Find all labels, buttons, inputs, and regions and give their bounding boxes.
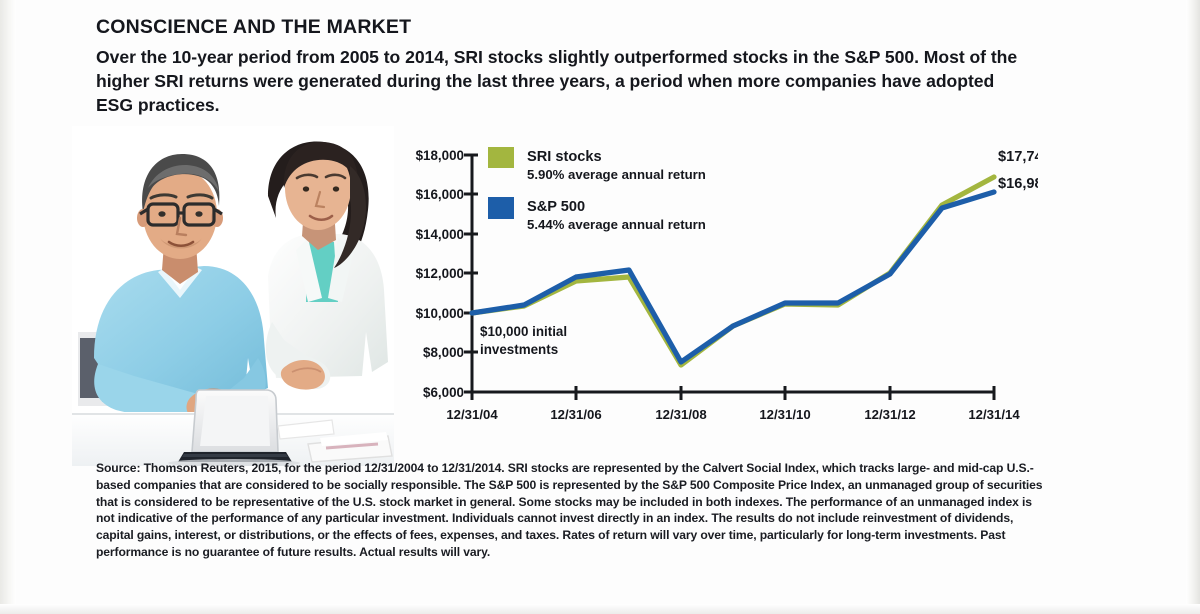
annotation-line-1: $10,000 initial [480, 324, 567, 339]
source-footnote: Source: Thomson Reuters, 2015, for the p… [96, 460, 1046, 561]
y-tick-label: $12,000 [416, 266, 464, 281]
x-tick-label: 12/31/12 [864, 407, 915, 422]
x-tick-label: 12/31/08 [655, 407, 706, 422]
chart-svg: $18,000 $16,000 $14,000 $12,000 $10,000 … [398, 140, 1038, 440]
page-subtitle: Over the 10-year period from 2005 to 201… [96, 45, 1036, 117]
legend-label-sri-stocks: SRI stocks [527, 149, 602, 165]
page-title: CONSCIENCE AND THE MARKET [96, 17, 1036, 38]
annotation-line-2: investments [480, 342, 558, 357]
photo-illustration [72, 126, 394, 466]
x-tick-label: 12/31/06 [550, 407, 601, 422]
page-edge-bottom [0, 604, 1200, 614]
header-block: CONSCIENCE AND THE MARKET Over the 10-ye… [96, 17, 1036, 117]
y-tick-label: $16,000 [416, 187, 464, 202]
x-tick-label: 12/31/14 [968, 407, 1020, 422]
x-tick-label: 12/31/04 [446, 407, 498, 422]
page-edge-right [1186, 0, 1200, 614]
x-axis-tick-labels: 12/31/04 12/31/06 12/31/08 12/31/10 12/3… [446, 407, 1020, 422]
initial-investment-annotation: $10,000 initial investments [480, 324, 567, 357]
y-tick-label: $18,000 [416, 148, 464, 163]
chart-legend: SRI stocks 5.90% average annual return S… [488, 147, 706, 232]
y-axis-tick-labels: $18,000 $16,000 $14,000 $12,000 $10,000 … [416, 148, 464, 400]
legend-label-sp500: S&P 500 [527, 199, 585, 215]
legend-swatch-sri-stocks [488, 147, 514, 168]
investment-growth-line-chart: $18,000 $16,000 $14,000 $12,000 $10,000 … [398, 140, 1038, 440]
y-tick-label: $10,000 [416, 306, 464, 321]
page-edge-left [0, 0, 16, 614]
series-end-value-labels: $17,745 $16,989 [998, 149, 1038, 192]
legend-swatch-sp500 [488, 197, 514, 219]
x-tick-label: 12/31/10 [759, 407, 810, 422]
y-tick-label: $8,000 [423, 345, 464, 360]
two-people-reviewing-laptop-photo [72, 126, 394, 466]
chart-axes [464, 155, 994, 400]
y-tick-label: $14,000 [416, 227, 464, 242]
end-label-sri-stocks: $17,745 [998, 149, 1038, 165]
y-tick-label: $6,000 [423, 385, 464, 400]
page-root: CONSCIENCE AND THE MARKET Over the 10-ye… [0, 0, 1200, 614]
legend-sublabel-sp500: 5.44% average annual return [527, 217, 706, 232]
end-label-sp500: $16,989 [998, 176, 1038, 192]
legend-sublabel-sri-stocks: 5.90% average annual return [527, 167, 706, 182]
